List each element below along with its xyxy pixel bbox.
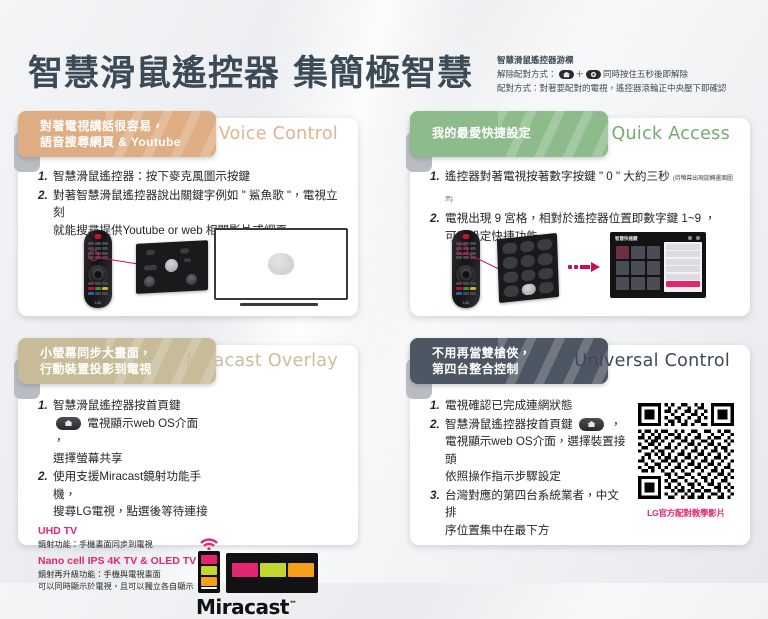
grid-cell: [631, 261, 644, 274]
step-number: 2.: [38, 468, 53, 521]
steps-miracast: 1. 智慧滑鼠遙控器按首頁鍵 電視顯示web OS介面 ， 選擇螢幕共享 2. …: [38, 397, 208, 593]
badge-line-1: 我的最愛快捷設定: [432, 125, 608, 141]
step-number: 1.: [38, 397, 53, 467]
grid-cell: [647, 261, 660, 274]
key-zero: [521, 283, 536, 296]
app-row: [666, 244, 700, 250]
miracast-wordmark: Miracast™: [196, 595, 296, 619]
brain-graphic: [268, 253, 294, 275]
unpair-prefix: 解除配對方式：: [497, 67, 557, 81]
home-key-icon: [579, 418, 604, 431]
grid-cell: [616, 246, 629, 259]
card-miracast: 小螢幕同步大畫面， 行動裝置投影到電視 Miracast Overlay 1. …: [18, 345, 358, 545]
step-text: 使用支援Miracast鏡射功能手機，: [53, 470, 201, 501]
card-universal-control: 不用再當雙槍俠， 第四台整合控制 Universal Control 1. 電視…: [410, 345, 750, 545]
lg-logo-mark: [463, 234, 470, 239]
pair-text: 配對方式：對著要配對的電視，遙控器滾輪正中央壓下即確認: [497, 81, 727, 95]
trademark-symbol: ™: [289, 599, 297, 608]
magic-remote: LG: [452, 230, 480, 308]
step-text: 台灣對應的第四台系統業者，中文排: [445, 489, 619, 520]
wheel-icon: [586, 70, 601, 79]
unpair-suffix: 同時按住五秒後即解除: [603, 67, 688, 81]
tv-screen-label: 智慧快速鍵: [615, 236, 638, 242]
card-eyebrow-universal: Universal Control: [574, 351, 730, 371]
status-dot: [688, 236, 692, 240]
page-title: 智慧滑鼠遙控器 集簡極智慧: [28, 45, 473, 96]
grid-cell: [647, 246, 660, 259]
card-eyebrow-miracast: Miracast Overlay: [185, 351, 338, 371]
step-number: 1.: [430, 168, 445, 209]
grid-cell: [647, 277, 660, 290]
step-subtext: 選擇螢幕共享: [53, 450, 208, 468]
step-subtext-2: 依照操作指示步驟設定: [445, 468, 630, 486]
app-list-panel: [664, 242, 702, 292]
home-icon: [559, 70, 574, 79]
pairing-note-title: 智慧滑鼠遙控器游標: [497, 54, 765, 67]
badge-line-2: 語音搜尋網頁 & Youtube: [40, 134, 216, 150]
mic-key-highlight: [88, 250, 99, 261]
step-item: 1. 智慧滑鼠遙控器按首頁鍵 電視顯示web OS介面 ， 選擇螢幕共享: [38, 397, 208, 467]
card-eyebrow-voice: Voice Control: [219, 124, 338, 144]
grid-cell: [616, 277, 629, 290]
illustration-quick: LG: [410, 228, 750, 310]
poster-page: 智慧滑鼠遙控器 集簡極智慧 智慧滑鼠遙控器游標 解除配對方式： ＋ 同時按住五秒…: [0, 0, 768, 583]
step-item: 3. 台灣對應的第四台系統業者，中文排 序位置集中在最下方: [430, 487, 630, 540]
badge-line-1: 對著電視講話很容易，: [40, 118, 216, 134]
step-item: 1. 電視確認已完成連網狀態: [430, 397, 630, 415]
detail-key: [146, 250, 155, 255]
step-item: 1. 遙控器對著電視按著數字按鍵 " 0 " 大約三秒 (待螢幕出現旋轉畫面圖示…: [430, 168, 736, 209]
detail-key: [144, 265, 157, 271]
home-key-icon: [56, 417, 81, 430]
home-button: [144, 276, 155, 288]
unpair-instruction: 解除配對方式： ＋ 同時按住五秒後即解除: [497, 67, 765, 81]
wifi-icon: [200, 537, 218, 550]
settings-button: [186, 274, 197, 286]
remote-bottom-keys: [456, 282, 476, 296]
magic-remote: LG: [84, 230, 112, 308]
step-subtext: 搜尋LG電視，點選後等待連接: [53, 503, 208, 521]
step-text-after: ，: [610, 418, 622, 431]
step-item: 2. 智慧滑鼠遙控器按首頁鍵 ， 電視顯示web OS介面，選擇裝置接頭 依照操…: [430, 416, 630, 486]
app-row-selected: [666, 281, 700, 287]
app-row: [666, 259, 700, 265]
detail-key: [180, 248, 189, 253]
unpair-plus: ＋: [576, 67, 585, 81]
quick-access-grid: [616, 246, 660, 290]
step-number: 1.: [430, 397, 445, 415]
tv-icon: [226, 553, 318, 593]
illustration-voice: LG: [18, 228, 358, 310]
card-badge-quick: 我的最愛快捷設定: [410, 111, 608, 157]
pairing-note: 智慧滑鼠遙控器游標 解除配對方式： ＋ 同時按住五秒後即解除 配對方式：對著要配…: [497, 54, 765, 95]
tv-illustration: [214, 228, 344, 300]
steps-universal: 1. 電視確認已完成連網狀態 2. 智慧滑鼠遙控器按首頁鍵 ， 電視顯示web …: [430, 397, 630, 540]
remote-brand: LG: [463, 300, 469, 305]
pair-instruction: 配對方式：對著要配對的電視，遙控器滾輪正中央壓下即確認: [497, 81, 765, 95]
qr-code[interactable]: [638, 403, 734, 499]
qr-block[interactable]: LG官方配對教學影片: [638, 403, 734, 519]
header: 智慧滑鼠遙控器 集簡極智慧 智慧滑鼠遙控器游標 解除配對方式： ＋ 同時按住五秒…: [0, 42, 768, 104]
step-text: 電視出現 9 宮格，相對於遙控器位置即數字鍵 1~9 ，: [445, 212, 716, 225]
remote-bottom-keys: [88, 282, 108, 296]
flow-arrow: [568, 262, 600, 272]
tv-stand: [240, 303, 318, 306]
app-row: [666, 266, 700, 272]
mic-button: [165, 259, 178, 273]
app-row: [666, 274, 700, 280]
step-number: 2.: [430, 416, 445, 486]
remote-detail-panel: [136, 240, 208, 294]
step-number: 3.: [430, 487, 445, 540]
detail-key: [184, 258, 191, 262]
grid-cell: [631, 277, 644, 290]
step-subtext: 電視顯示web OS介面，選擇裝置接頭: [445, 433, 630, 468]
lg-logo-mark: [95, 234, 102, 239]
app-row: [666, 251, 700, 257]
tv-quick-access-screen: 智慧快速鍵: [610, 232, 706, 298]
step-text: 智慧滑鼠遙控器：按下麥克風圖示按鍵: [53, 170, 250, 183]
grid-cell: [631, 246, 644, 259]
card-eyebrow-quick: Quick Access: [611, 124, 730, 144]
step-item: 1. 智慧滑鼠遙控器：按下麥克風圖示按鍵: [38, 168, 344, 186]
step-text: 遙控器對著電視按著數字按鍵 " 0 " 大約三秒: [445, 170, 670, 183]
numeric-keypad-detail: [497, 233, 559, 303]
step-text-before: 智慧滑鼠遙控器按首頁鍵: [445, 418, 573, 431]
step-text-before: 智慧滑鼠遙控器按首頁鍵: [53, 399, 181, 412]
qr-caption: LG官方配對教學影片: [638, 507, 734, 519]
miracast-text: Miracast: [196, 595, 289, 619]
step-item: 2. 使用支援Miracast鏡射功能手機， 搜尋LG電視，點選後等待連接: [38, 468, 208, 521]
status-dot: [696, 236, 700, 240]
remote-brand: LG: [95, 300, 101, 305]
tv-screen: [214, 228, 348, 300]
step-subtext: 序位置集中在最下方: [445, 522, 630, 540]
step-text: 電視確認已完成連網狀態: [445, 399, 573, 412]
phone-icon: [198, 551, 220, 593]
step-text: 對著智慧滑鼠遙控器說出關鍵字例如 " 鯊魚歌 "，電視立刻: [53, 189, 338, 220]
step-number: 1.: [38, 168, 53, 186]
grid-cell: [616, 261, 629, 274]
card-badge-voice: 對著電視講話很容易， 語音搜尋網頁 & Youtube: [18, 111, 216, 157]
card-quick-access: 我的最愛快捷設定 Quick Access 1. 遙控器對著電視按著數字按鍵 "…: [410, 118, 750, 316]
card-voice-control: 對著電視講話很容易， 語音搜尋網頁 & Youtube Voice Contro…: [18, 118, 358, 316]
